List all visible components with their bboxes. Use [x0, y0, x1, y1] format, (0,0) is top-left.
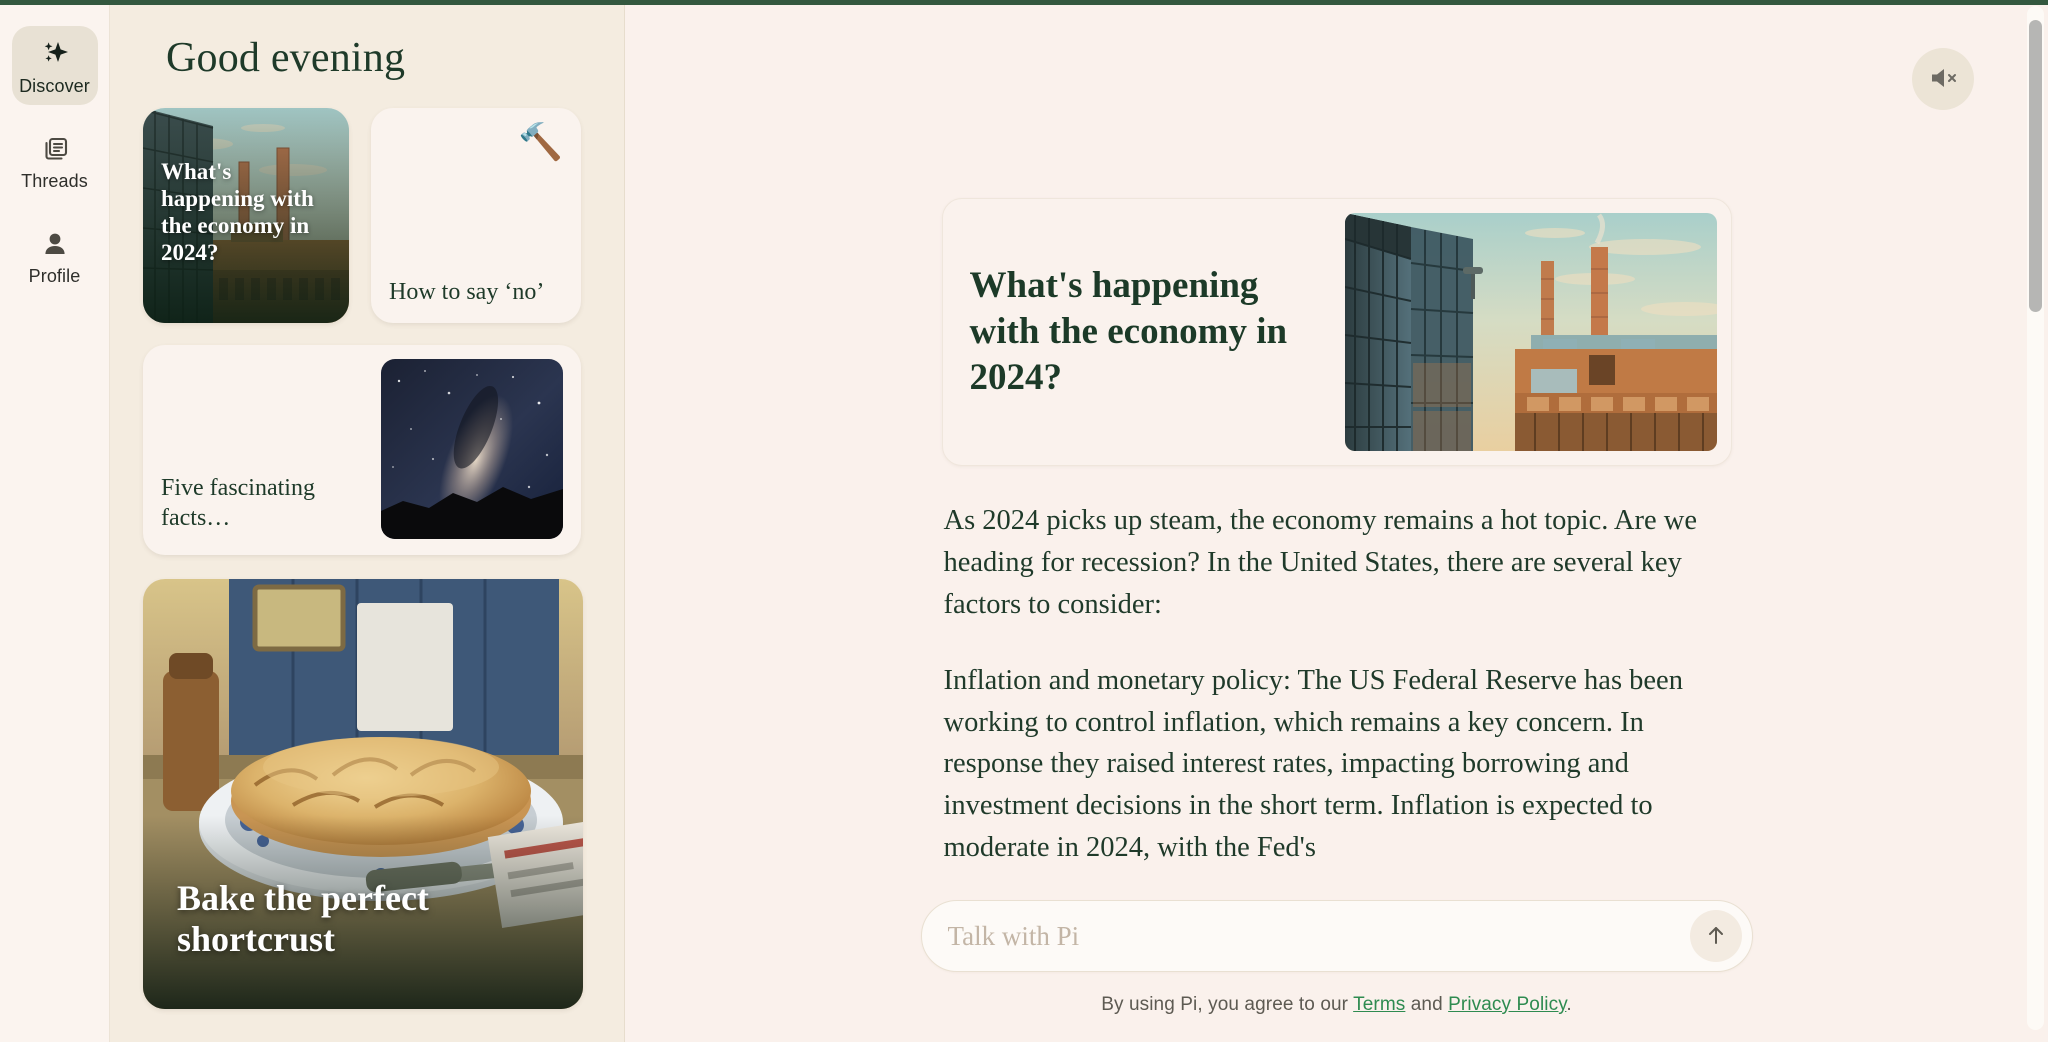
- conversation-main: What's happening with the economy in 202…: [625, 0, 2048, 1042]
- person-icon: [39, 228, 71, 260]
- legal-prefix: By using Pi, you agree to our: [1101, 994, 1353, 1015]
- discover-card-title: How to say ‘no’: [389, 278, 563, 307]
- page-title: Good evening: [166, 34, 594, 82]
- sidebar-item-label: Profile: [29, 267, 81, 285]
- speaker-mute-icon: [1928, 65, 1958, 94]
- left-nav-rail: Discover Threads Profile: [0, 0, 110, 1042]
- legal-suffix: .: [1566, 994, 1571, 1015]
- discover-card-title: What's happening with the economy in 202…: [161, 158, 335, 267]
- sidebar-item-label: Discover: [19, 77, 90, 95]
- discover-card-say-no[interactable]: 🔨 How to say ‘no’: [371, 108, 581, 323]
- legal-notice: By using Pi, you agree to our Terms and …: [1101, 994, 1572, 1016]
- discover-card-economy[interactable]: What's happening with the economy in 202…: [143, 108, 349, 323]
- message-thread: What's happening with the economy in 202…: [942, 198, 1732, 869]
- discover-card-title: Bake the perfect shortcrust: [177, 878, 555, 962]
- mute-button[interactable]: [1912, 48, 1974, 110]
- discover-panel: Good evening: [110, 0, 625, 1042]
- arrow-up-icon: [1704, 923, 1728, 950]
- discover-card-row: What's happening with the economy in 202…: [143, 108, 594, 323]
- scrollbar-thumb[interactable]: [2029, 20, 2042, 312]
- article-hero-card[interactable]: What's happening with the economy in 202…: [942, 198, 1732, 466]
- hammer-emoji: 🔨: [518, 124, 563, 160]
- sidebar-item-label: Threads: [21, 172, 88, 190]
- discover-card-five-facts[interactable]: Five fascinating facts…: [143, 345, 581, 555]
- sparkle-icon: [39, 38, 71, 70]
- terms-link[interactable]: Terms: [1353, 994, 1405, 1015]
- discover-card-title: Five fascinating facts…: [161, 474, 361, 539]
- card-emoji-row: 🔨: [389, 124, 563, 160]
- message-input[interactable]: [948, 921, 1690, 952]
- discover-card-shortcrust[interactable]: Bake the perfect shortcrust: [143, 579, 583, 1009]
- threads-icon: [39, 133, 71, 165]
- main-scrollbar[interactable]: [2027, 6, 2044, 1030]
- sidebar-item-profile[interactable]: Profile: [12, 216, 98, 295]
- article-paragraph-1: As 2024 picks up steam, the economy rema…: [942, 500, 1732, 626]
- window-top-accent-bar: [0, 0, 2048, 5]
- privacy-policy-link[interactable]: Privacy Policy: [1448, 994, 1566, 1015]
- pi-app-window: Discover Threads Profile: [0, 0, 2048, 1042]
- industrial-power-station-photo: [1345, 213, 1717, 451]
- sidebar-item-threads[interactable]: Threads: [12, 121, 98, 200]
- send-button[interactable]: [1690, 910, 1742, 962]
- sidebar-item-discover[interactable]: Discover: [12, 26, 98, 105]
- article-heading: What's happening with the economy in 202…: [957, 263, 1335, 401]
- legal-middle: and: [1405, 994, 1448, 1015]
- composer-bar[interactable]: [921, 900, 1753, 972]
- article-paragraph-2: Inflation and monetary policy: The US Fe…: [942, 660, 1732, 869]
- composer-area: By using Pi, you agree to our Terms and …: [625, 866, 2048, 1042]
- milky-way-thumbnail-image: [381, 359, 563, 539]
